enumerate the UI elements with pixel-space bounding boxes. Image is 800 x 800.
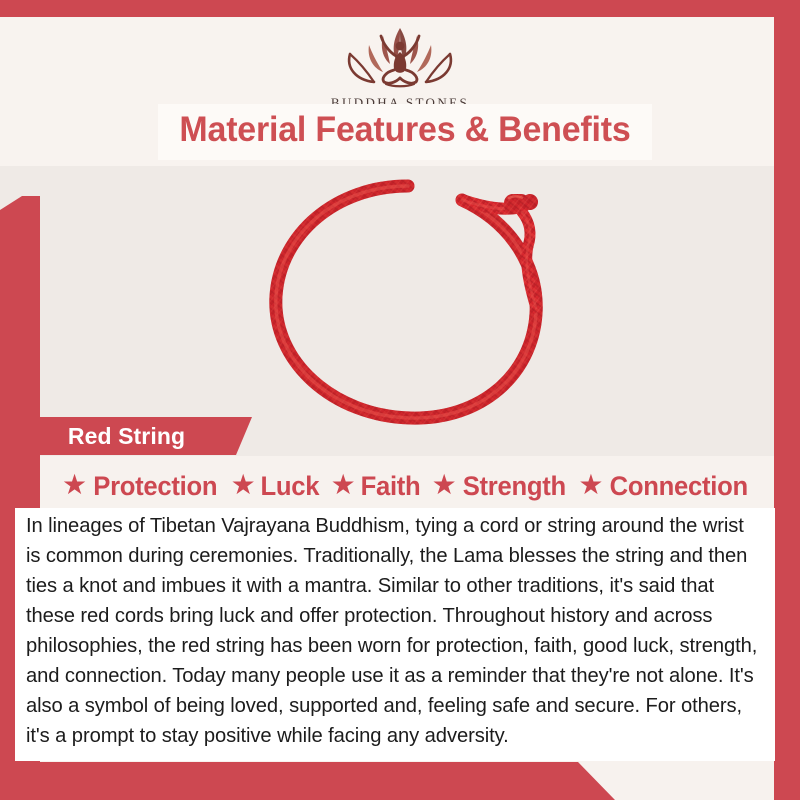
benefits-row: ★ Protection ★ Luck ★ Faith ★ Strength ★… [40,466,774,506]
star-icon: ★ [62,471,87,499]
benefit-item-protection: ★ Protection [62,471,221,502]
star-icon: ★ [432,471,457,499]
benefit-label: Protection [93,471,217,502]
star-icon: ★ [231,471,256,499]
decorative-border-top [0,0,800,17]
lotus-meditation-icon [326,20,474,94]
page-title: Material Features & Benefits [165,102,644,158]
benefit-item-luck: ★ Luck [231,471,321,502]
infographic-page: BUDDHA STONES Material Features & Benefi… [0,0,800,800]
product-name-label: Red String [17,417,236,455]
benefit-label: Strength [462,471,565,502]
red-string-bracelet-photo [210,168,610,440]
decorative-border-right [774,0,800,800]
benefit-item-connection: ★ Connection [578,471,752,502]
star-icon: ★ [331,471,356,499]
star-icon: ★ [578,471,603,499]
benefit-item-faith: ★ Faith [331,471,422,502]
benefit-label: Faith [360,471,420,502]
description-paragraph: In lineages of Tibetan Vajrayana Buddhis… [26,511,760,751]
decorative-border-bottom [0,762,615,800]
benefit-label: Connection [610,471,748,502]
benefit-label: Luck [260,471,319,502]
brand-logo: BUDDHA STONES [0,20,800,111]
benefit-item-strength: ★ Strength [432,471,569,502]
